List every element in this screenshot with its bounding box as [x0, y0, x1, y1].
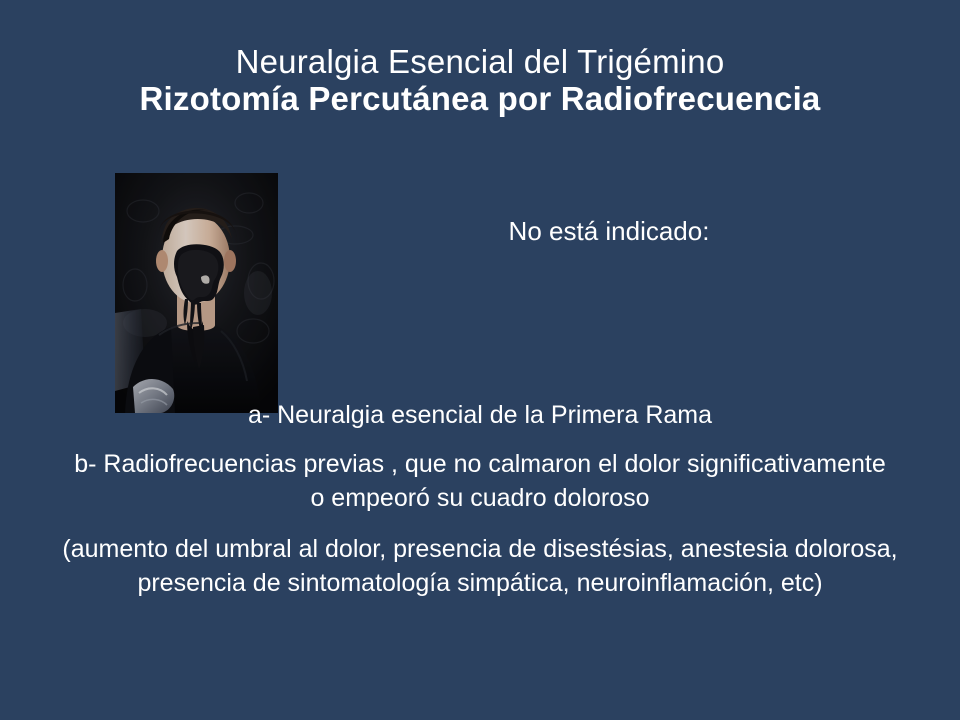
portrait-image [115, 173, 278, 413]
portrait-photo [115, 173, 278, 413]
body-text-block: a- Neuralgia esencial de la Primera Rama… [30, 398, 930, 601]
slide-canvas: Neuralgia Esencial del Trigémino Rizotom… [0, 0, 960, 720]
title-line-primary: Neuralgia Esencial del Trigémino [0, 44, 960, 81]
title-line-secondary: Rizotomía Percutánea por Radiofrecuencia [0, 81, 960, 118]
body-item-c: (aumento del umbral al dolor, presencia … [30, 532, 930, 601]
lead-in-text: No está indicado: [258, 216, 960, 247]
body-item-a: a- Neuralgia esencial de la Primera Rama [30, 398, 930, 433]
page-title: Neuralgia Esencial del Trigémino Rizotom… [0, 44, 960, 118]
body-item-b: b- Radiofrecuencias previas , que no cal… [30, 447, 930, 516]
